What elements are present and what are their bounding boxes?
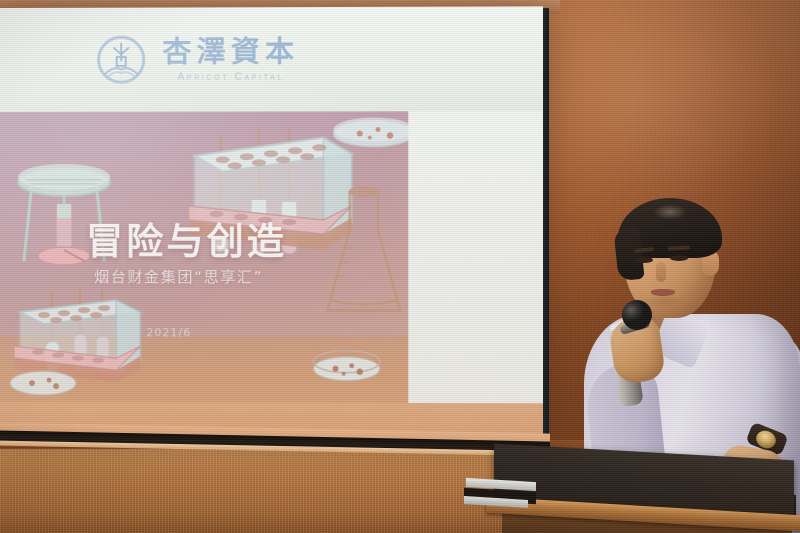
brand-name-en: Apricot Capital: [178, 71, 284, 82]
eye-right: [670, 255, 688, 261]
brand-logo: 杏澤資本 Apricot Capital: [94, 32, 299, 87]
petri-dish-bottom-left-icon: [8, 366, 78, 398]
screen-surface: 杏澤資本 Apricot Capital: [0, 6, 543, 441]
petri-dish-bottom-center-icon: [311, 351, 382, 385]
presentation-photo-scene: 杏澤資本 Apricot Capital: [0, 0, 800, 533]
slide-subtitle: 烟台财金集团“思享汇”: [94, 266, 263, 287]
brand-name-cn: 杏澤資本: [162, 36, 299, 67]
presentation-slide: 杏澤資本 Apricot Capital: [0, 6, 543, 441]
erlenmeyer-flask-icon: [317, 182, 410, 333]
apricot-circle-seal-logo: [94, 33, 148, 87]
lectern: [476, 440, 800, 533]
mouth: [651, 289, 675, 296]
nose: [656, 262, 666, 282]
slide-title: 冒险与创造: [86, 211, 287, 265]
projection-screen: 杏澤資本 Apricot Capital: [0, 8, 539, 440]
hair-highlight: [650, 204, 690, 220]
eye-left: [636, 257, 653, 263]
slide-white-right-fill: [408, 111, 543, 403]
hair-sideburn: [613, 227, 644, 281]
brand-logo-text: 杏澤資本 Apricot Capital: [162, 36, 299, 82]
slide-date: 2021/6: [146, 326, 191, 339]
